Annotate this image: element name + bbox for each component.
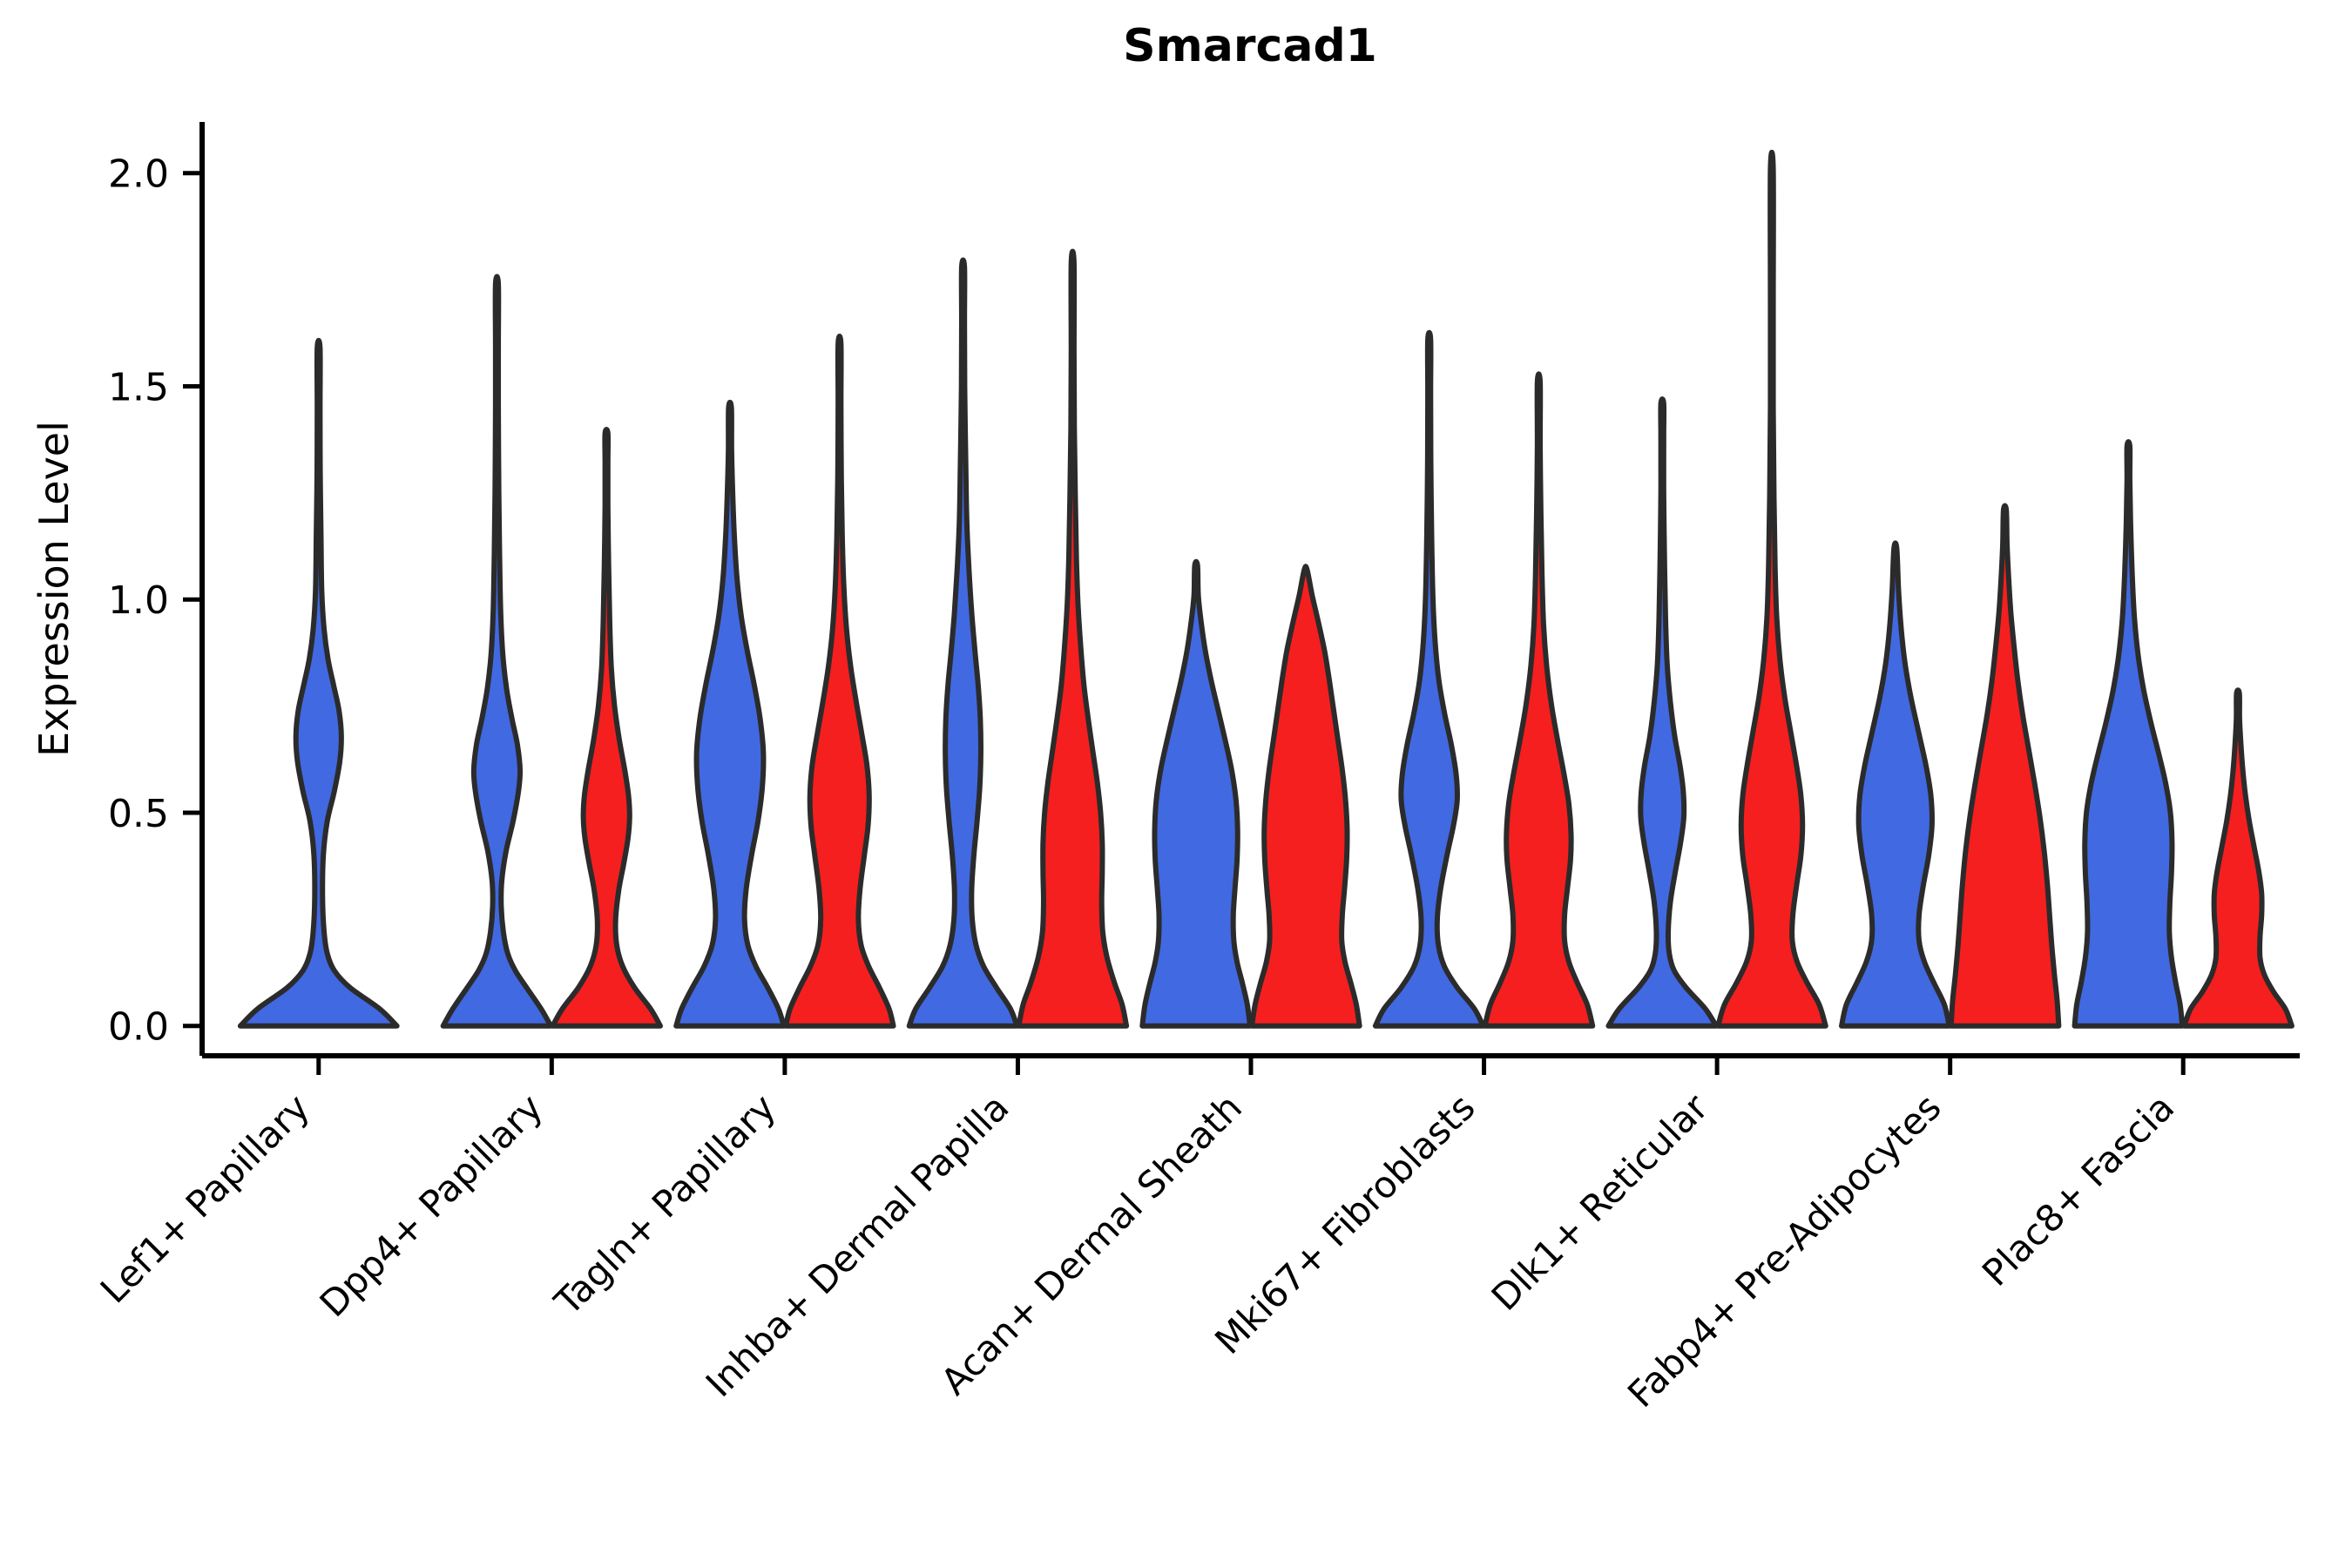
page-title: Smarcad1 [1123, 20, 1377, 72]
y-axis-label: Expression Level [30, 421, 78, 757]
y-tick-label: 0.0 [108, 1005, 169, 1050]
y-tick-label: 1.5 [108, 365, 169, 409]
y-tick-label: 0.5 [108, 792, 169, 836]
y-tick-label: 2.0 [108, 152, 169, 197]
plot-canvas: Smarcad1 Expression Level 0.00.51.01.52.… [0, 0, 2352, 1568]
y-tick-label: 1.0 [108, 578, 169, 623]
violin-plot-figure: Smarcad1 Expression Level 0.00.51.01.52.… [0, 0, 2352, 1568]
